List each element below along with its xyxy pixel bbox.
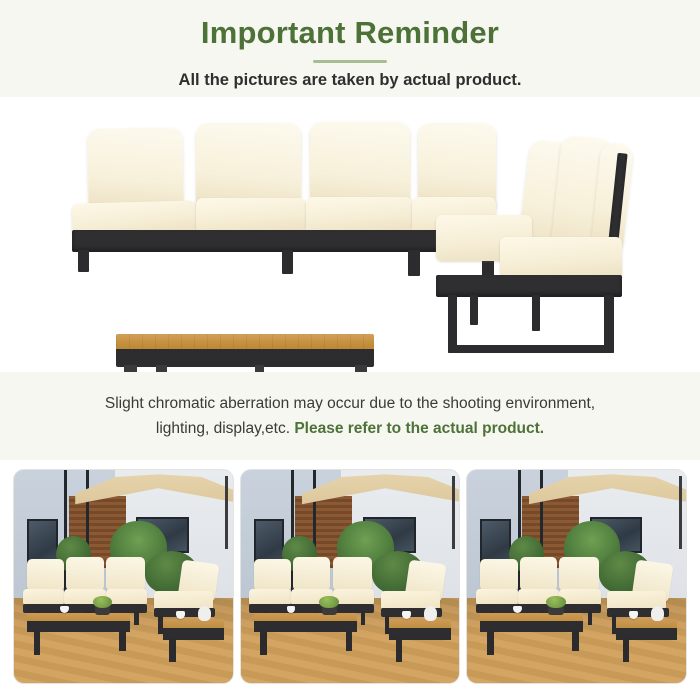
thumbnail-image-1[interactable] xyxy=(13,469,234,684)
thumb-sofa-frame xyxy=(23,604,148,613)
sofa-leg-mid xyxy=(282,250,293,274)
chaise-leg-inner xyxy=(532,295,540,331)
thumb-coffee-table-body xyxy=(480,621,583,632)
thumb-cup-left xyxy=(60,606,69,612)
thumb-coffee-table-leg-l xyxy=(487,630,494,656)
disclaimer-line-2-accent: Please refer to the actual product. xyxy=(294,420,544,437)
coffee-table-apron xyxy=(116,349,374,367)
patio-umbrella-pole xyxy=(452,476,455,548)
thumb-sofa-back-1 xyxy=(27,559,64,591)
patio-scene-3 xyxy=(467,470,686,683)
thumbnail-image-2[interactable] xyxy=(240,469,461,684)
reminder-page: Important Reminder All the pictures are … xyxy=(0,0,700,700)
sofa-leg-left xyxy=(78,250,89,272)
hero-illustration xyxy=(0,97,700,372)
thumb-sofa-leg-3 xyxy=(134,611,138,626)
disclaimer-line-2: lighting, display,etc. Please refer to t… xyxy=(156,416,544,441)
thumb-sofa-frame xyxy=(249,604,374,613)
title-divider xyxy=(313,60,387,63)
thumb-vase xyxy=(651,606,664,621)
thumb-side-table-leg xyxy=(623,638,630,661)
patio-umbrella-pole xyxy=(679,476,682,548)
thumb-coffee-table-leg-r xyxy=(119,630,126,651)
thumb-vase xyxy=(424,606,437,621)
coffee-table-leg-left-inner xyxy=(156,365,167,372)
disclaimer-line-1: Slight chromatic aberration may occur du… xyxy=(105,391,595,416)
sofa-leg-right xyxy=(408,250,420,276)
thumbnail-strip xyxy=(0,460,700,684)
coffee-table-leg-mid xyxy=(255,365,264,372)
thumb-sofa-back-3 xyxy=(559,557,598,591)
chaise-frame xyxy=(436,275,622,297)
coffee-table-leg-left xyxy=(124,365,137,372)
chaise-leg-mid xyxy=(470,295,478,325)
thumb-planter-greens xyxy=(546,596,566,609)
thumb-sofa-frame xyxy=(476,604,601,613)
thumb-coffee-table-leg-r xyxy=(572,630,579,651)
sofa-seat-cushion-2 xyxy=(196,198,306,232)
thumb-sofa-leg-3 xyxy=(361,611,365,626)
thumb-cup-right xyxy=(176,611,185,620)
coffee-table-leg-right xyxy=(355,365,367,372)
page-subtitle: All the pictures are taken by actual pro… xyxy=(0,69,700,91)
thumb-sofa-back-3 xyxy=(106,557,145,591)
sofa-seat-cushion-3 xyxy=(306,197,412,232)
thumb-sofa-back-2 xyxy=(520,557,557,591)
disclaimer-line-2-plain: lighting, display,etc. xyxy=(156,420,294,437)
coffee-table-top xyxy=(116,334,374,350)
hero-product-image xyxy=(0,97,700,372)
thumb-sofa-back-2 xyxy=(66,557,103,591)
thumb-sofa-leg-3 xyxy=(588,611,592,626)
disclaimer-band: Slight chromatic aberration may occur du… xyxy=(0,372,700,460)
chaise-stretcher xyxy=(448,345,614,353)
thumb-sofa-back-2 xyxy=(293,557,330,591)
thumb-sofa-back-1 xyxy=(254,559,291,591)
thumb-side-table-leg xyxy=(396,638,403,661)
thumb-coffee-table-body xyxy=(27,621,130,632)
thumb-sofa-back-1 xyxy=(480,559,517,591)
page-title: Important Reminder xyxy=(0,13,700,53)
thumb-coffee-table-leg-l xyxy=(260,630,267,656)
header-band: Important Reminder All the pictures are … xyxy=(0,0,700,97)
thumb-vase xyxy=(198,606,211,621)
thumbnail-image-3[interactable] xyxy=(466,469,687,684)
chaise-seat-cushion-2 xyxy=(500,237,622,279)
thumb-side-table-leg xyxy=(169,638,176,661)
patio-scene-2 xyxy=(241,470,460,683)
thumb-coffee-table-body xyxy=(254,621,357,632)
thumb-coffee-table-leg-r xyxy=(346,630,353,651)
thumb-coffee-table-leg-l xyxy=(34,630,41,656)
thumb-sofa-back-3 xyxy=(333,557,372,591)
patio-scene-1 xyxy=(14,470,233,683)
patio-umbrella-pole xyxy=(225,476,228,548)
